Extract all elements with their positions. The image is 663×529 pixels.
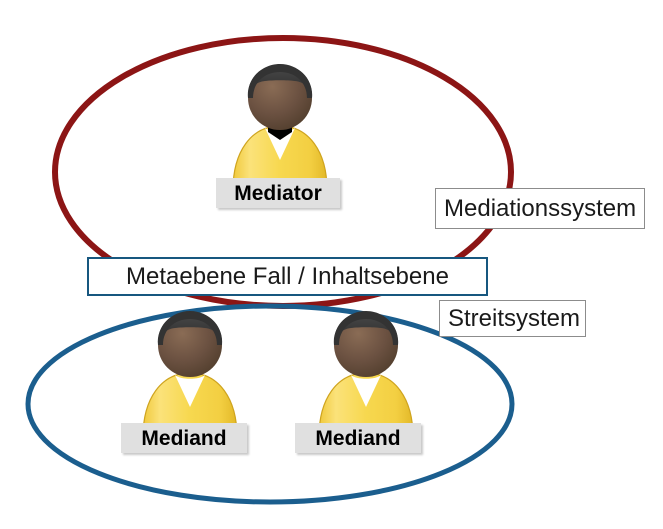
mediand-b-badge-label: Mediand [315, 428, 400, 449]
person-icon [131, 307, 249, 437]
mediationssystem-label: Mediationssystem [444, 195, 636, 223]
metaebene-box: Metaebene Fall / Inhaltsebene [87, 257, 488, 296]
mediand-b-badge: Mediand [295, 423, 421, 453]
mediand-a-figure [131, 307, 249, 437]
person-icon [221, 60, 339, 190]
streitsystem-box: Streitsystem [439, 300, 586, 337]
mediator-badge: Mediator [216, 178, 340, 208]
diagram-canvas: Mediator [0, 0, 663, 529]
streitsystem-label: Streitsystem [448, 305, 580, 333]
person-icon [307, 307, 425, 437]
mediand-a-badge-label: Mediand [141, 428, 226, 449]
mediator-badge-label: Mediator [234, 183, 322, 204]
mediator-figure [221, 60, 339, 190]
mediand-b-figure [307, 307, 425, 437]
mediand-a-badge: Mediand [121, 423, 247, 453]
mediationssystem-box: Mediationssystem [435, 188, 645, 229]
metaebene-label: Metaebene Fall / Inhaltsebene [126, 263, 449, 291]
